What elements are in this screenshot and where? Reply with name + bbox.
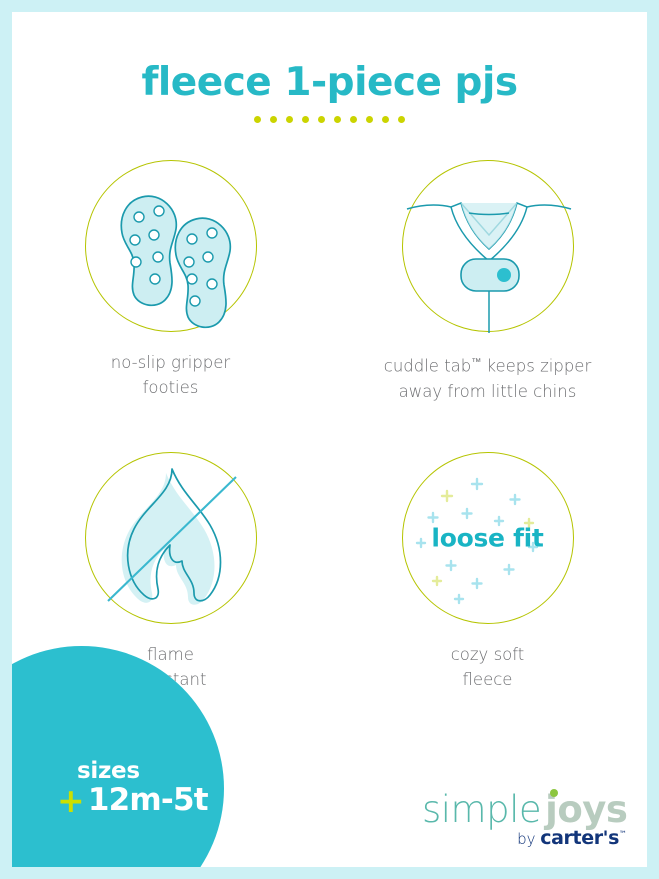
caption-line-2: fleece bbox=[451, 667, 525, 692]
dot-divider bbox=[12, 116, 647, 123]
sizes-label: sizes bbox=[77, 758, 208, 784]
page-title: fleece 1-piece pjs bbox=[12, 60, 647, 105]
sizes-range-row: + 12m-5t bbox=[57, 782, 208, 818]
loose-fit-badge-text: loose fit bbox=[403, 523, 573, 552]
product-infographic: fleece 1-piece pjs bbox=[0, 0, 659, 879]
caption-line-1: cuddle tab™ keeps zipper bbox=[384, 350, 591, 379]
caption-text-b: keeps zipper bbox=[481, 357, 591, 376]
feature-icon-circle: loose fit bbox=[402, 452, 574, 624]
feature-cozy-soft-fleece: loose fit cozy soft fleece bbox=[329, 452, 646, 692]
caption-line-1: no-slip gripper bbox=[111, 350, 230, 375]
flame-resistant-icon bbox=[86, 453, 258, 625]
divider-dot bbox=[398, 116, 405, 123]
trademark-symbol: ™ bbox=[619, 830, 627, 839]
sizes-range: 12m-5t bbox=[88, 782, 208, 818]
caption-line-2: away from little chins bbox=[384, 379, 591, 404]
brand-logo: simplejoys by carter's™ bbox=[422, 791, 627, 849]
divider-dot bbox=[334, 116, 341, 123]
feature-caption: cozy soft fleece bbox=[451, 642, 525, 692]
gripper-footies-icon bbox=[86, 161, 258, 333]
divider-dot bbox=[286, 116, 293, 123]
feature-row-top: no-slip gripper footies bbox=[12, 160, 647, 404]
logo-wordmark: simplejoys bbox=[422, 791, 627, 829]
trademark-symbol: ™ bbox=[471, 357, 481, 368]
divider-dot bbox=[350, 116, 357, 123]
divider-dot bbox=[382, 116, 389, 123]
divider-dot bbox=[254, 116, 261, 123]
feature-cuddle-tab: cuddle tab™ keeps zipper away from littl… bbox=[329, 160, 646, 404]
logo-simple: simple bbox=[422, 788, 541, 831]
divider-dot bbox=[302, 116, 309, 123]
feature-icon-circle bbox=[402, 160, 574, 332]
divider-dot bbox=[318, 116, 325, 123]
cuddle-tab-zipper-icon bbox=[403, 161, 575, 333]
divider-dot bbox=[366, 116, 373, 123]
caption-line-1: cozy soft bbox=[451, 642, 525, 667]
logo-joys: joys bbox=[545, 788, 627, 831]
plus-icon: + bbox=[57, 784, 84, 817]
feature-icon-circle bbox=[85, 160, 257, 332]
caption-line-2: footies bbox=[111, 375, 230, 400]
infographic-card: fleece 1-piece pjs bbox=[12, 12, 647, 867]
row-spacer bbox=[12, 404, 647, 452]
sizes-badge-text: sizes + 12m-5t bbox=[57, 758, 208, 818]
feature-gripper-footies: no-slip gripper footies bbox=[12, 160, 329, 404]
feature-grid: no-slip gripper footies bbox=[12, 160, 647, 692]
divider-dot bbox=[270, 116, 277, 123]
feature-caption: cuddle tab™ keeps zipper away from littl… bbox=[384, 350, 591, 404]
logo-by: by bbox=[517, 830, 540, 848]
feature-icon-circle bbox=[85, 452, 257, 624]
feature-caption: no-slip gripper footies bbox=[111, 350, 230, 400]
caption-text-a: cuddle tab bbox=[384, 357, 472, 376]
